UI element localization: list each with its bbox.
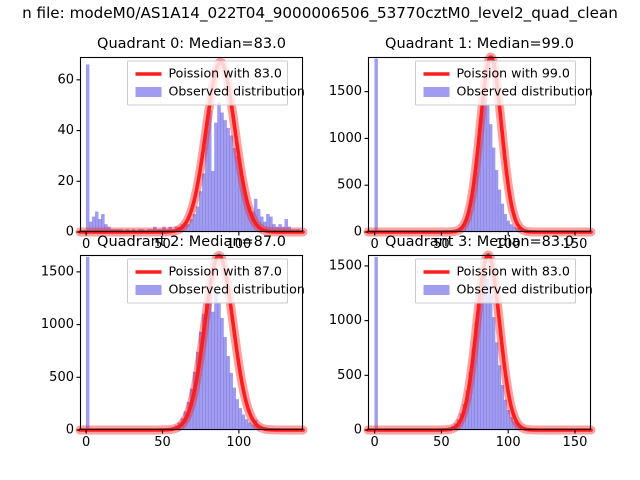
quadrant-3-ytick-label: 1000	[329, 313, 362, 328]
quadrant-2-xtick-label: 100	[226, 435, 251, 450]
quadrant-1-ytick-label: 1500	[329, 84, 362, 99]
matplotlib-figure: n file: modeM0/AS1A14_022T04_9000006506_…	[0, 0, 640, 480]
quadrant-0-legend[interactable]: Poission with 83.0Observed distribution	[128, 61, 305, 105]
quadrant-2-plot: 050100050010001500Poission with 87.0Obse…	[80, 255, 373, 464]
figure-suptitle: n file: modeM0/AS1A14_022T04_9000006506_…	[22, 3, 618, 23]
quadrant-3-legend-label-poisson: Poission with 83.0	[457, 264, 570, 279]
quadrant-3-ytick-label: 500	[337, 368, 362, 383]
quadrant-1-ytick-label: 500	[337, 178, 362, 193]
subplot-quadrant-2: Quadrant 2: Median=87.005010005001000150…	[80, 255, 303, 430]
quadrant-3-xtick-label: 0	[371, 435, 379, 450]
quadrant-3-legend-label-observed: Observed distribution	[457, 282, 593, 297]
quadrant-0-legend-label-observed: Observed distribution	[169, 84, 305, 99]
quadrant-3-title: Quadrant 3: Median=83.0	[385, 234, 574, 251]
quadrant-1-legend[interactable]: Poission with 99.0Observed distribution	[416, 61, 593, 105]
quadrant-1-legend-label-poisson: Poission with 99.0	[457, 66, 570, 81]
subplot-quadrant-1: Quadrant 1: Median=99.005010015005001000…	[368, 57, 591, 232]
quadrant-3-plot: 050100150050010001500Poission with 83.0O…	[368, 255, 640, 464]
quadrant-0-ytick-label: 20	[57, 174, 74, 189]
quadrant-2-xtick-label: 50	[154, 435, 171, 450]
quadrant-2-ytick-label: 500	[49, 370, 74, 385]
quadrant-1-ytick-label: 1000	[329, 131, 362, 146]
quadrant-0-xtick-label: 0	[82, 237, 90, 252]
quadrant-0-title: Quadrant 0: Median=83.0	[97, 36, 286, 53]
quadrant-2-legend-label-observed: Observed distribution	[169, 282, 305, 297]
quadrant-2-legend-label-poisson: Poission with 87.0	[169, 264, 282, 279]
quadrant-2-legend[interactable]: Poission with 87.0Observed distribution	[128, 259, 305, 303]
quadrant-0-legend-label-poisson: Poission with 83.0	[169, 66, 282, 81]
quadrant-3-legend[interactable]: Poission with 83.0Observed distribution	[416, 259, 593, 303]
quadrant-1-legend-label-observed: Observed distribution	[457, 84, 593, 99]
quadrant-2-title: Quadrant 2: Median=87.0	[97, 234, 286, 251]
quadrant-3-ytick-label: 0	[354, 423, 362, 438]
quadrant-0-ytick-label: 60	[57, 72, 74, 87]
subplot-quadrant-3: Quadrant 3: Median=83.005010015005001000…	[368, 255, 591, 430]
subplot-quadrant-0: Quadrant 0: Median=83.00501000204060Pois…	[80, 57, 303, 232]
quadrant-3-xtick-label: 100	[496, 435, 521, 450]
quadrant-3-xtick-label: 50	[433, 435, 450, 450]
quadrant-1-title: Quadrant 1: Median=99.0	[385, 36, 574, 53]
quadrant-1-ytick-label: 0	[354, 225, 362, 240]
quadrant-2-ytick-label: 1500	[41, 264, 74, 279]
quadrant-2-ytick-label: 1000	[41, 317, 74, 332]
quadrant-0-ytick-label: 0	[66, 225, 74, 240]
quadrant-0-ytick-label: 40	[57, 123, 74, 138]
quadrant-2-xtick-label: 0	[82, 435, 90, 450]
quadrant-1-xtick-label: 0	[371, 237, 379, 252]
quadrant-3-ytick-label: 1500	[329, 258, 362, 273]
quadrant-2-ytick-label: 0	[66, 423, 74, 438]
quadrant-3-xtick-label: 150	[563, 435, 588, 450]
